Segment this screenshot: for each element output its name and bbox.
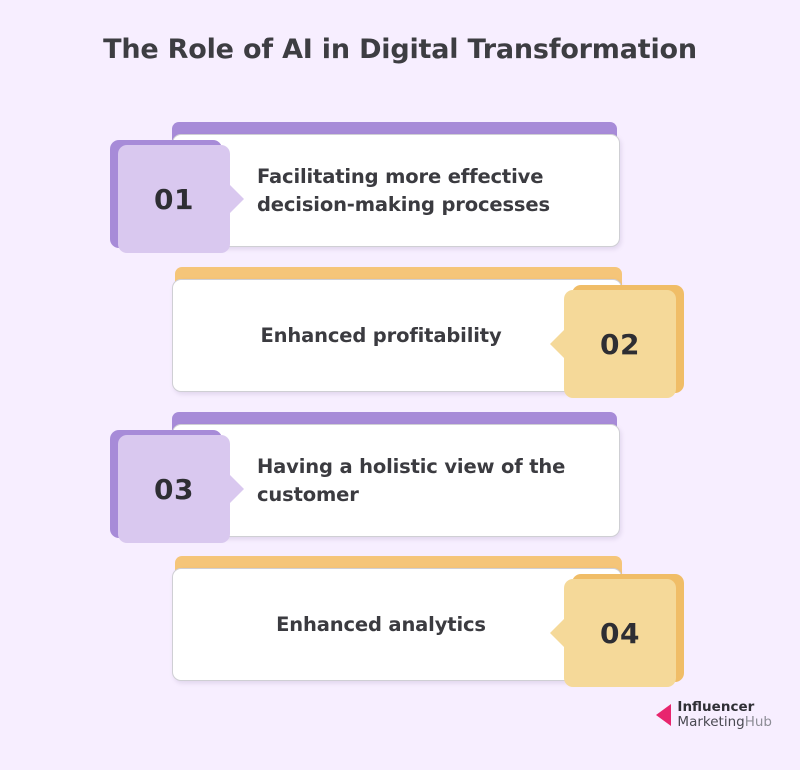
badge-number: 03	[154, 473, 194, 506]
item-text: Facilitating more effective decision-mak…	[257, 163, 595, 218]
badge-number: 02	[600, 328, 640, 361]
number-badge: 02	[564, 285, 684, 397]
number-badge: 03	[110, 430, 230, 542]
logo-line-influencer: Influencer	[677, 700, 772, 715]
infographic-page: { "title": "The Role of AI in Digital Tr…	[0, 0, 800, 770]
page-title: The Role of AI in Digital Transformation	[0, 34, 800, 65]
badge-arrow-icon	[550, 329, 565, 359]
badge-arrow-icon	[229, 184, 244, 214]
badge-number: 04	[600, 617, 640, 650]
list-item: Enhanced profitability 02	[172, 267, 684, 397]
logo-line-marketinghub: MarketingHub	[677, 715, 772, 730]
item-text: Enhanced profitability	[260, 322, 501, 350]
left-arrow-icon	[656, 704, 671, 726]
logo-hub: Hub	[745, 714, 772, 730]
badge-front-layer: 02	[564, 290, 676, 398]
list-item: Enhanced analytics 04	[172, 556, 684, 686]
badge-arrow-icon	[229, 474, 244, 504]
number-badge: 01	[110, 140, 230, 252]
item-text: Having a holistic view of the customer	[257, 453, 595, 508]
logo-marketing: Marketing	[677, 714, 744, 730]
number-badge: 04	[564, 574, 684, 686]
brand-logo: Influencer MarketingHub	[656, 700, 772, 730]
badge-number: 01	[154, 183, 194, 216]
badge-front-layer: 04	[564, 579, 676, 687]
badge-arrow-icon	[550, 618, 565, 648]
badge-front-layer: 03	[118, 435, 230, 543]
logo-text: Influencer MarketingHub	[677, 700, 772, 730]
item-text: Enhanced analytics	[276, 611, 486, 639]
badge-front-layer: 01	[118, 145, 230, 253]
list-item: Having a holistic view of the customer 0…	[110, 412, 620, 542]
list-item: Facilitating more effective decision-mak…	[110, 122, 620, 252]
